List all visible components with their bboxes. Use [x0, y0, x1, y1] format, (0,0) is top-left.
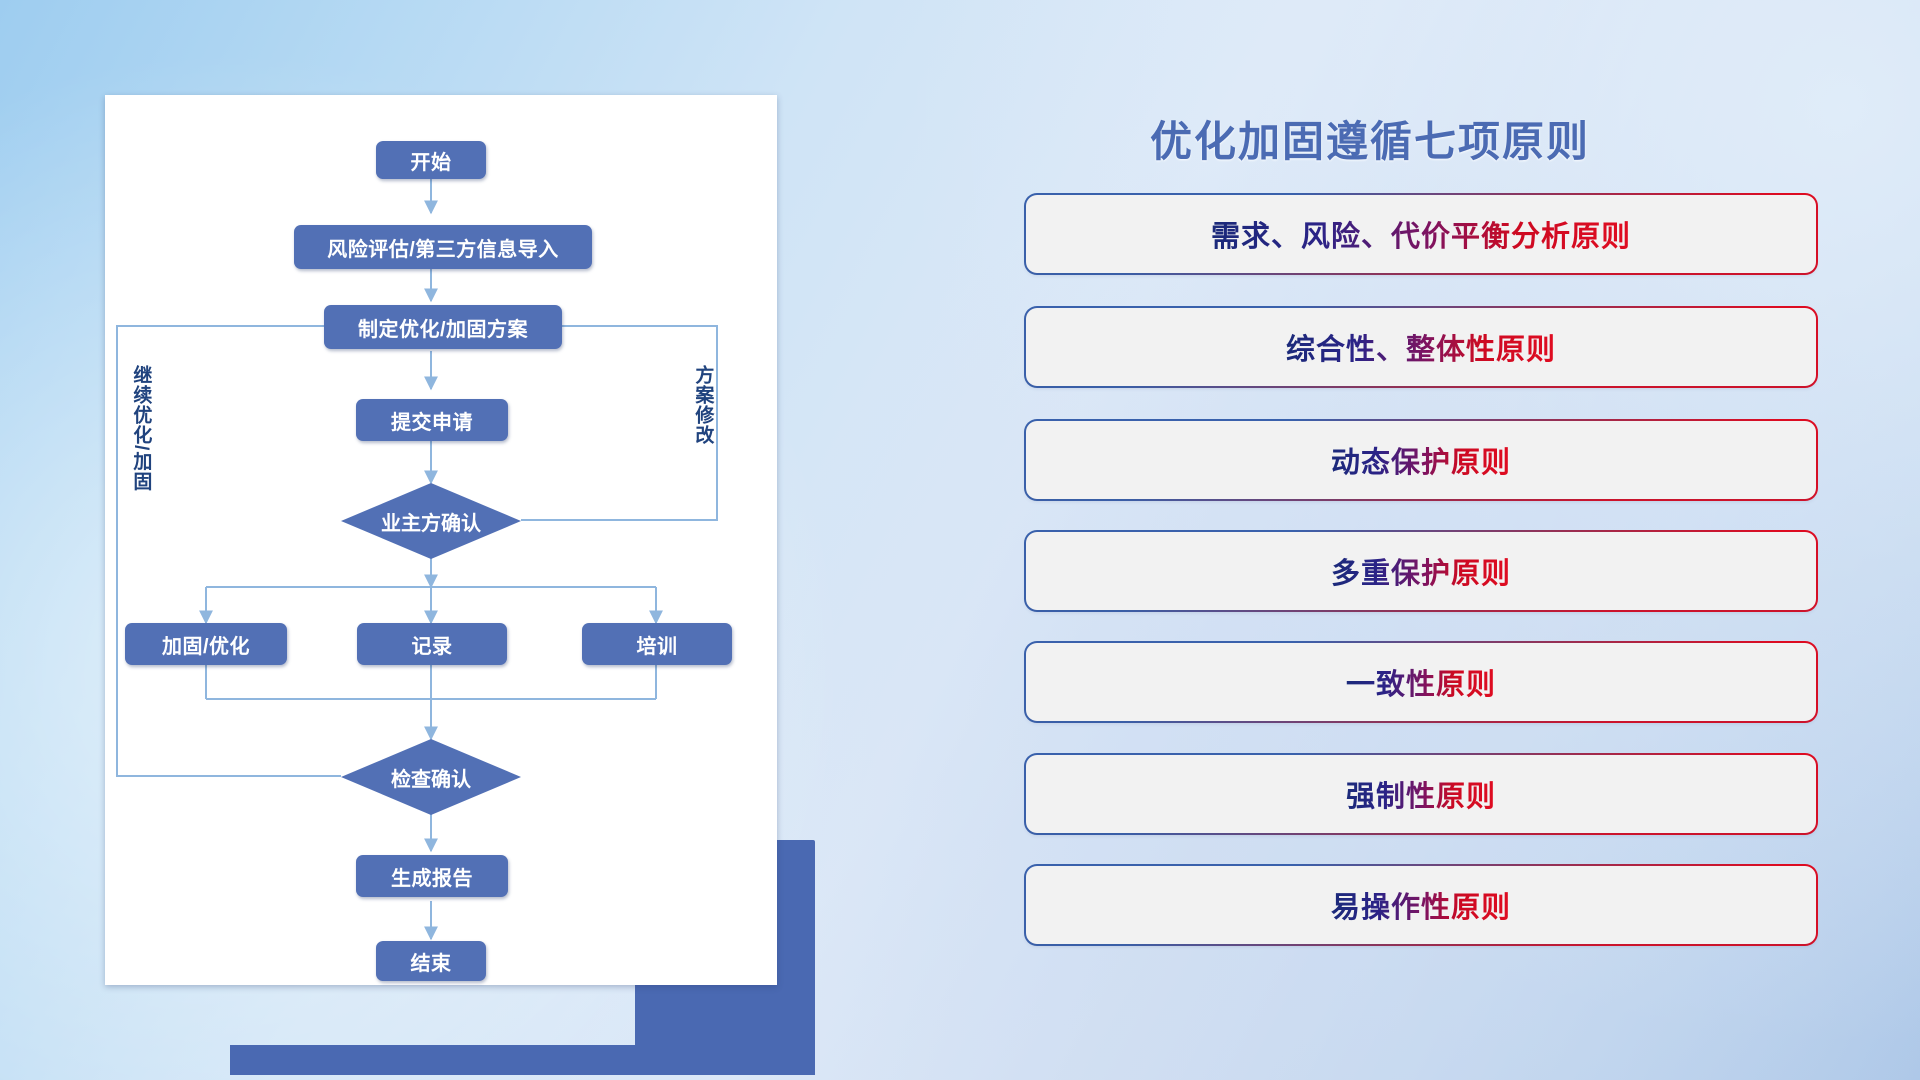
flow-node-owner-confirm: 业主方确认	[341, 483, 521, 559]
flow-node-end: 结束	[376, 941, 486, 981]
principle-card-7[interactable]: 易操作性原则	[1026, 866, 1816, 944]
principle-card-4[interactable]: 多重保护原则	[1026, 532, 1816, 610]
principle-card-2[interactable]: 综合性、整体性原则	[1026, 308, 1816, 386]
principles-title: 优化加固遵循七项原则	[1150, 108, 1590, 169]
flow-node-check-confirm: 检查确认	[341, 739, 521, 815]
flow-node-label: 提交申请	[391, 406, 473, 435]
principle-label: 多重保护原则	[1331, 550, 1511, 592]
principle-label: 一致性原则	[1346, 661, 1496, 703]
flow-node-generate-report: 生成报告	[356, 855, 508, 897]
flow-node-label: 结束	[411, 947, 452, 976]
flow-node-training: 培训	[582, 623, 732, 665]
principle-card-3[interactable]: 动态保护原则	[1026, 421, 1816, 499]
flow-node-label: 生成报告	[391, 862, 473, 891]
card-accent-shadow-bottom	[230, 1045, 815, 1075]
principle-label: 动态保护原则	[1331, 439, 1511, 481]
flow-node-plan: 制定优化/加固方案	[324, 305, 562, 349]
principle-label: 综合性、整体性原则	[1286, 326, 1556, 368]
principles-panel: 优化加固遵循七项原则 需求、风险、代价平衡分析原则 综合性、整体性原则 动态保护…	[1010, 90, 1840, 1040]
flowchart-panel: 开始 风险评估/第三方信息导入 制定优化/加固方案 提交申请 业主方确认 加固/…	[105, 95, 785, 975]
principle-label: 强制性原则	[1346, 773, 1496, 815]
flow-node-submit-application: 提交申请	[356, 399, 508, 441]
flow-node-record: 记录	[357, 623, 507, 665]
flowchart-card: 开始 风险评估/第三方信息导入 制定优化/加固方案 提交申请 业主方确认 加固/…	[105, 95, 777, 985]
flow-node-label: 风险评估/第三方信息导入	[327, 233, 559, 262]
flow-node-label: 培训	[637, 630, 678, 659]
flow-node-label: 开始	[411, 146, 452, 175]
principle-card-6[interactable]: 强制性原则	[1026, 755, 1816, 833]
principle-card-1[interactable]: 需求、风险、代价平衡分析原则	[1026, 195, 1816, 273]
flow-node-risk-assessment: 风险评估/第三方信息导入	[294, 225, 592, 269]
principle-label: 需求、风险、代价平衡分析原则	[1211, 213, 1631, 255]
edge-label-left-loop: 继续优化/加固	[131, 365, 150, 491]
principle-label: 易操作性原则	[1331, 884, 1511, 926]
flow-node-label: 制定优化/加固方案	[358, 313, 528, 342]
flow-node-label: 业主方确认	[381, 507, 481, 536]
flow-node-label: 记录	[412, 630, 453, 659]
flow-node-start: 开始	[376, 141, 486, 179]
edge-label-right-loop: 方案修改	[693, 365, 712, 445]
flow-node-label: 加固/优化	[162, 630, 250, 659]
principle-card-5[interactable]: 一致性原则	[1026, 643, 1816, 721]
flow-node-reinforce: 加固/优化	[125, 623, 287, 665]
flow-node-label: 检查确认	[391, 763, 471, 792]
